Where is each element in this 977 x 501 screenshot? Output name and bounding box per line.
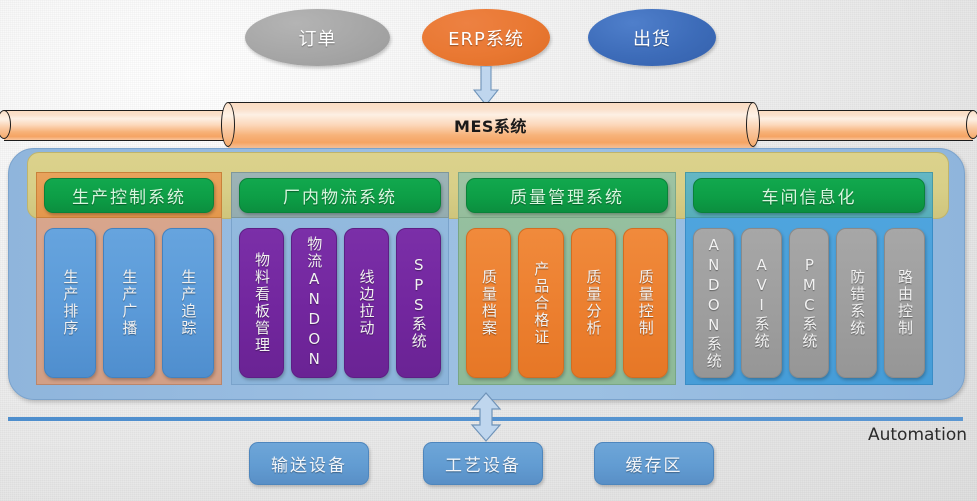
node-order[interactable]: 订单 (245, 9, 390, 66)
group-header-production-control: 生产控制系统 (44, 178, 214, 213)
item-production-tracking[interactable]: 生产追踪 (162, 228, 214, 378)
item-product-certificate[interactable]: 产品合格证 (518, 228, 563, 378)
node-erp[interactable]: ERP系统 (422, 9, 550, 66)
node-shipment-label: 出货 (633, 25, 671, 51)
arrow-down-icon (473, 66, 499, 106)
group-production-control[interactable]: 生产控制系统 生产排序 生产广播 生产追踪 (36, 172, 222, 385)
item-pmc-system[interactable]: PMC系统 (789, 228, 830, 378)
mes-bar-left-extension (4, 110, 254, 141)
cylinder-cap-icon (0, 110, 11, 139)
mes-bar[interactable]: MES系统 (0, 101, 977, 149)
item-avi-system[interactable]: AVI系统 (741, 228, 782, 378)
mes-bar-right-extension (723, 110, 973, 141)
mes-label: MES系统 (228, 102, 753, 147)
group-header-band: 质量管理系统 (458, 172, 676, 218)
group-header-band: 厂内物流系统 (231, 172, 449, 218)
group-plant-logistics[interactable]: 厂内物流系统 物料看板管理 物流ANDON 线边拉动 SPS系统 (231, 172, 449, 385)
node-process-equipment[interactable]: 工艺设备 (423, 442, 543, 485)
node-shipment[interactable]: 出货 (588, 9, 716, 66)
group-items: ANDON系统 AVI系统 PMC系统 防错系统 路由控制 (693, 228, 925, 378)
group-quality-management[interactable]: 质量管理系统 质量档案 产品合格证 质量分析 质量控制 (458, 172, 676, 385)
item-quality-analysis[interactable]: 质量分析 (571, 228, 616, 378)
cylinder-cap-icon (966, 110, 977, 139)
group-header-workshop-informatization: 车间信息化 (693, 178, 925, 213)
automation-label: Automation (868, 425, 967, 445)
item-material-kanban-management[interactable]: 物料看板管理 (239, 228, 284, 378)
item-production-broadcast[interactable]: 生产广播 (103, 228, 155, 378)
node-process-equipment-label: 工艺设备 (445, 451, 521, 476)
group-header-band: 生产控制系统 (36, 172, 222, 218)
diagram-canvas: 订单 ERP系统 出货 MES系统 生产控制系统 生产排序 生产广播 (0, 0, 977, 501)
arrow-bidirectional-icon (470, 392, 502, 442)
item-sps-system[interactable]: SPS系统 (396, 228, 441, 378)
group-items: 质量档案 产品合格证 质量分析 质量控制 (466, 228, 668, 378)
item-line-side-pull[interactable]: 线边拉动 (344, 228, 389, 378)
item-error-proofing-system[interactable]: 防错系统 (836, 228, 877, 378)
node-conveying-equipment[interactable]: 输送设备 (249, 442, 369, 485)
item-production-sequencing[interactable]: 生产排序 (44, 228, 96, 378)
item-andon-system[interactable]: ANDON系统 (693, 228, 734, 378)
node-buffer-zone[interactable]: 缓存区 (594, 442, 714, 485)
group-header-quality-management: 质量管理系统 (466, 178, 668, 213)
node-conveying-equipment-label: 输送设备 (271, 451, 347, 476)
group-workshop-informatization[interactable]: 车间信息化 ANDON系统 AVI系统 PMC系统 防错系统 路由控制 (685, 172, 933, 385)
node-order-label: 订单 (299, 25, 337, 51)
item-quality-control[interactable]: 质量控制 (623, 228, 668, 378)
item-logistics-andon[interactable]: 物流ANDON (291, 228, 336, 378)
group-items: 物料看板管理 物流ANDON 线边拉动 SPS系统 (239, 228, 441, 378)
item-routing-control[interactable]: 路由控制 (884, 228, 925, 378)
group-header-band: 车间信息化 (685, 172, 933, 218)
node-buffer-zone-label: 缓存区 (626, 451, 683, 476)
node-erp-label: ERP系统 (448, 25, 524, 51)
group-header-plant-logistics: 厂内物流系统 (239, 178, 441, 213)
item-quality-archive[interactable]: 质量档案 (466, 228, 511, 378)
group-items: 生产排序 生产广播 生产追踪 (44, 228, 214, 378)
